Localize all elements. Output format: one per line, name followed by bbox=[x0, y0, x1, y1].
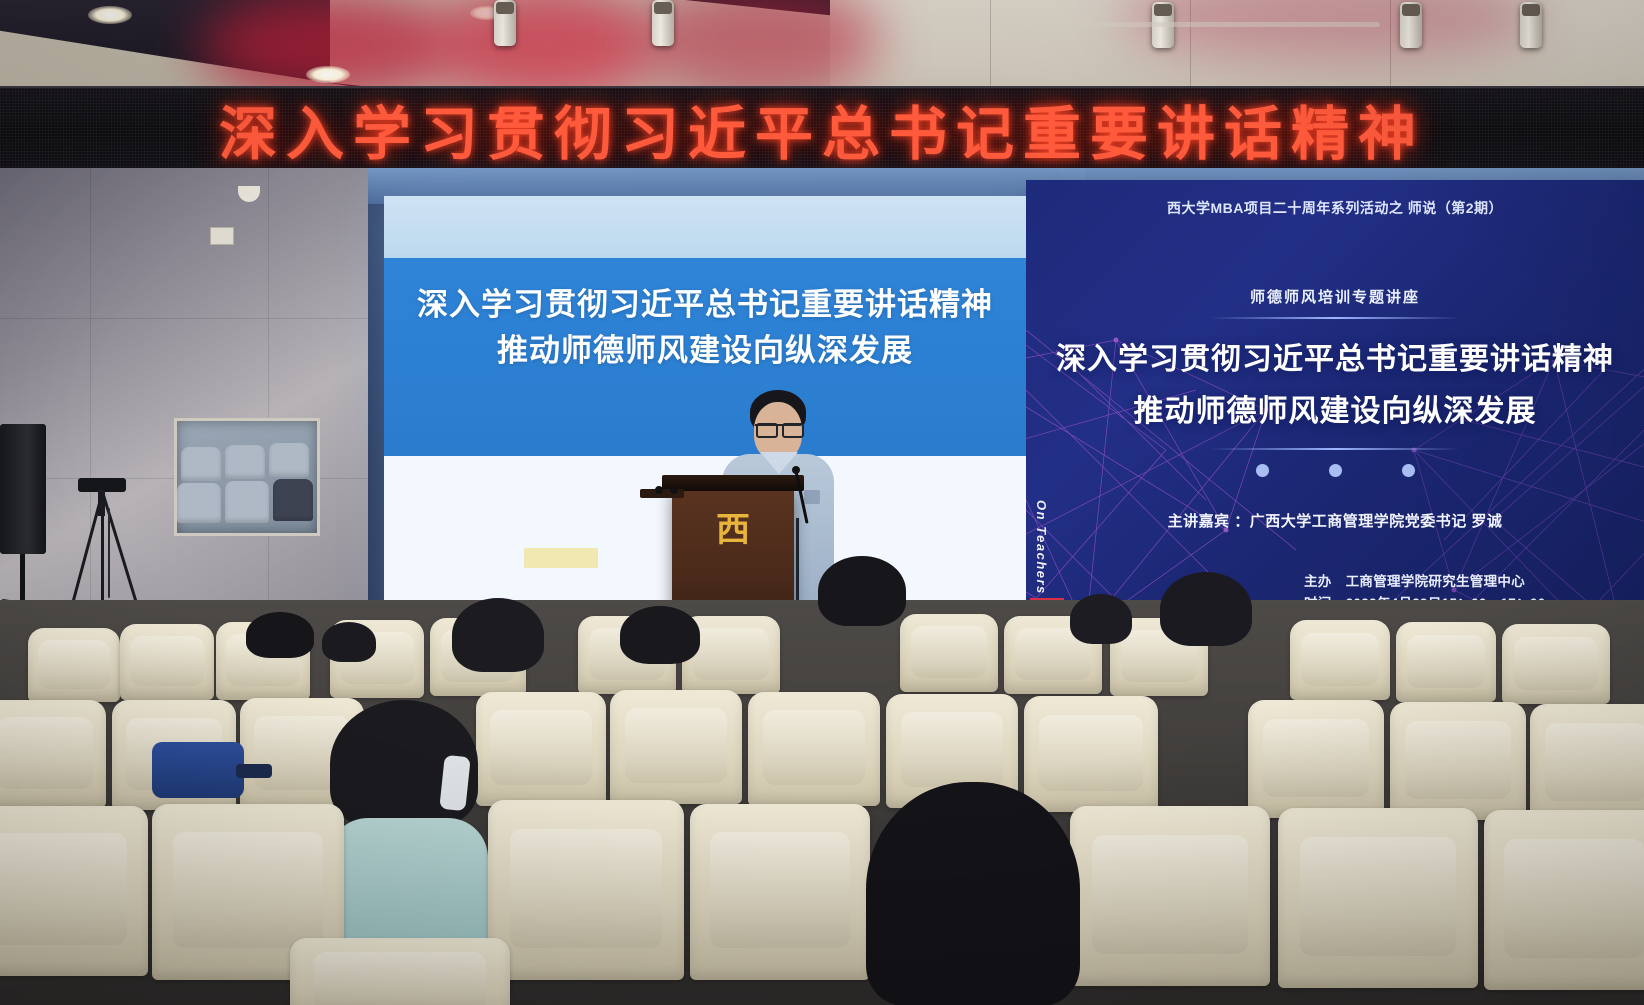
led-panel-header: 西大学MBA项目二十周年系列活动之 师说（第2期） bbox=[1026, 198, 1644, 218]
audience-member-shirt bbox=[328, 818, 488, 948]
screen-top-band bbox=[384, 196, 1026, 258]
audience-member bbox=[1070, 594, 1132, 644]
led-banner-text: 深入学习贯彻习近平总书记重要讲话精神 bbox=[0, 88, 1644, 170]
led-display-panel: 西大学MBA项目二十周年系列活动之 师说（第2期） 师德师风培训专题讲座 深入学… bbox=[1026, 180, 1644, 628]
led-meta-value: 工商管理学院研究生管理中心 bbox=[1346, 574, 1525, 589]
led-decorative-dots bbox=[1026, 464, 1644, 477]
wall-left bbox=[0, 168, 392, 638]
seat bbox=[1502, 624, 1610, 704]
led-meta-row: 主办工商管理学院研究生管理中心 bbox=[1304, 570, 1525, 590]
microphone-head-icon bbox=[655, 486, 663, 494]
dot-icon bbox=[1402, 464, 1415, 477]
led-panel-title-line1: 深入学习贯彻习近平总书记重要讲话精神 bbox=[1026, 334, 1644, 386]
seat bbox=[28, 628, 120, 702]
led-panel-subtitle: 师德师风培训专题讲座 bbox=[1026, 286, 1644, 307]
stage-spotlight bbox=[1520, 2, 1542, 48]
seat bbox=[748, 692, 880, 806]
auditorium-photo: 深入学习贯彻习近平总书记重要讲话精神 bbox=[0, 0, 1644, 1005]
seat bbox=[1248, 700, 1384, 818]
stage-spotlight bbox=[494, 0, 516, 46]
dot-icon bbox=[1329, 464, 1342, 477]
seat bbox=[900, 614, 998, 692]
led-meta-label: 主办 bbox=[1304, 574, 1332, 589]
seat bbox=[1484, 810, 1644, 990]
bag bbox=[152, 742, 244, 798]
seat bbox=[488, 800, 684, 980]
stage-spotlight bbox=[1400, 2, 1422, 48]
control-room-window bbox=[174, 418, 320, 536]
audience-member bbox=[1160, 572, 1252, 646]
seat bbox=[1024, 696, 1158, 812]
led-divider-bottom bbox=[1210, 448, 1460, 450]
dot-icon bbox=[1256, 464, 1269, 477]
audience-member bbox=[452, 598, 544, 672]
microphone-head-icon bbox=[792, 466, 800, 474]
audience-member bbox=[246, 612, 314, 658]
ceiling-downlight bbox=[88, 6, 132, 24]
led-banner: 深入学习贯彻习近平总书记重要讲话精神 bbox=[0, 86, 1644, 172]
screen-title: 深入学习贯彻习近平总书记重要讲话精神 推动师德师风建设向纵深发展 bbox=[384, 282, 1026, 374]
seat bbox=[1278, 808, 1478, 988]
seat bbox=[690, 804, 870, 980]
audience-member bbox=[818, 556, 906, 626]
audience-member bbox=[620, 606, 700, 664]
bag-strap bbox=[236, 764, 272, 778]
ceiling-track bbox=[1080, 22, 1380, 27]
loudspeaker bbox=[0, 424, 46, 554]
ceiling-downlight bbox=[306, 66, 350, 83]
seat bbox=[1396, 622, 1496, 702]
seat bbox=[120, 624, 214, 700]
glasses-lens bbox=[756, 423, 778, 438]
seat bbox=[1530, 704, 1644, 822]
wall-outlet bbox=[210, 227, 234, 245]
led-vertical-english-text: On Teachers bbox=[1034, 500, 1049, 595]
stage-spotlight bbox=[652, 0, 674, 46]
screen-title-line2: 推动师德师风建设向纵深发展 bbox=[384, 328, 1026, 374]
seat bbox=[476, 692, 606, 806]
seat bbox=[290, 938, 510, 1005]
seat bbox=[1390, 702, 1526, 820]
presenter-pocket bbox=[804, 490, 820, 504]
ceiling bbox=[0, 0, 1644, 96]
audience-member bbox=[866, 782, 1080, 1005]
seat bbox=[610, 690, 742, 804]
podium: 西 bbox=[672, 487, 794, 617]
seat bbox=[0, 806, 148, 976]
seat bbox=[1070, 806, 1270, 986]
audience-member bbox=[322, 622, 376, 662]
screen-title-line1: 深入学习贯彻习近平总书记重要讲话精神 bbox=[384, 282, 1026, 328]
seat bbox=[0, 700, 106, 808]
led-divider-top bbox=[1210, 317, 1460, 319]
led-speaker-line: 主讲嘉宾 ：广西大学工商管理学院党委书记 罗诚 bbox=[1026, 510, 1644, 531]
seat bbox=[1290, 620, 1390, 700]
glasses-lens bbox=[782, 423, 804, 438]
microphone-head-icon bbox=[670, 486, 678, 494]
led-panel-title-line2: 推动师德师风建设向纵深发展 bbox=[1026, 386, 1644, 438]
university-emblem-icon: 西 bbox=[716, 513, 750, 547]
